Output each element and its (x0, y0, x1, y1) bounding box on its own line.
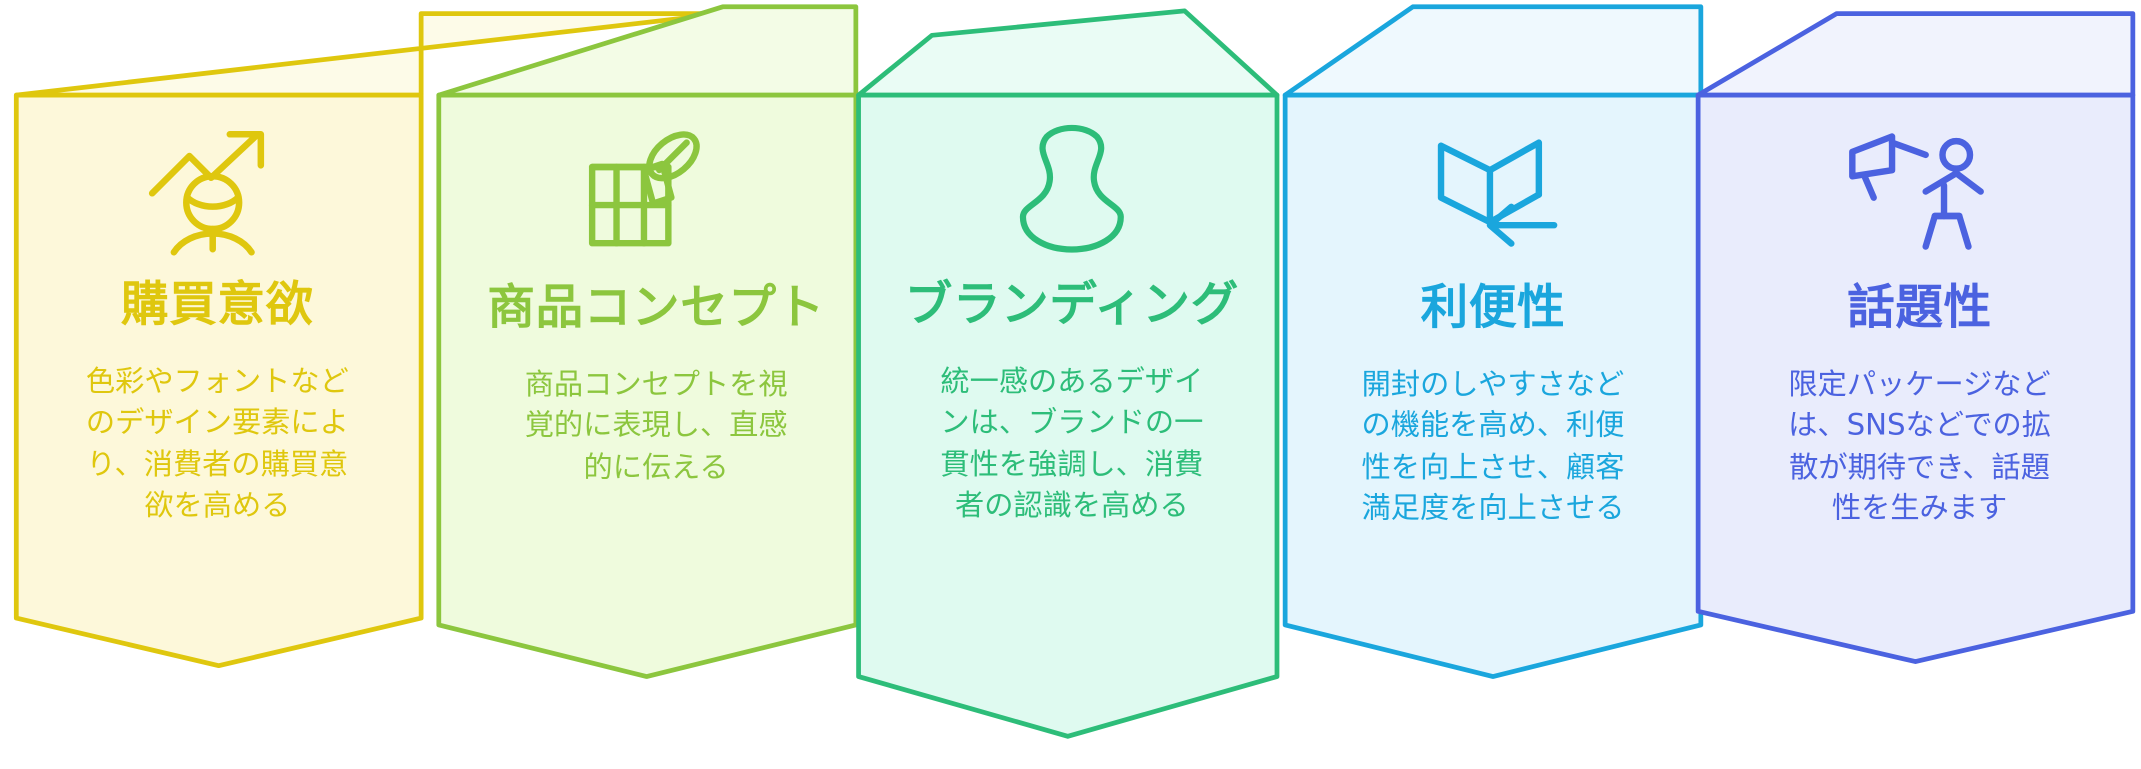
body-line: り、消費者の購買意 (54, 445, 380, 486)
growth-person-arrow-icon (137, 125, 297, 255)
panel-4-body-text: 開封のしやすさなど の機能を高め、利便 性を向上させ、顧客 満足度を向上させる (1330, 365, 1656, 531)
body-line: 限定パッケージなど (1757, 365, 2083, 406)
panel-buzz[interactable]: 話題性 限定パッケージなど は、SNSなどでの拡 散が期待でき、話題 性を生みま… (1679, 0, 2141, 666)
body-line: 商品コンセプトを視 (493, 365, 819, 406)
panel-1-title: 購買意欲 (121, 280, 314, 332)
body-line: のデザイン要素によ (54, 403, 380, 444)
panel-3-body-text: 統一感のあるデザイ ンは、ブランドの一 貫性を強調し、消費 者の認識を高める (909, 362, 1235, 528)
panel-convenience[interactable]: 利便性 開封のしやすさなど の機能を高め、利便 性を向上させ、顧客 満足度を向上… (1263, 0, 1711, 679)
panel-2-title: 商品コンセプト (487, 283, 825, 335)
body-line: の機能を高め、利便 (1330, 406, 1656, 447)
open-box-arrow-icon (1417, 130, 1569, 252)
body-line: は、SNSなどでの拡 (1757, 406, 2083, 447)
body-line: 色彩やフォントなど (54, 362, 380, 403)
panel-5-body-text: 限定パッケージなど は、SNSなどでの拡 散が期待でき、話題 性を生みます (1757, 365, 2083, 531)
panel-2-body-text: 商品コンセプトを視 覚的に表現し、直感 的に伝える (493, 365, 819, 489)
body-line: ンは、ブランドの一 (909, 403, 1235, 444)
panel-purchase-intent[interactable]: 購買意欲 色彩やフォントなど のデザイン要素によ り、消費者の購買意 欲を高める (0, 0, 435, 666)
panel-5-title: 話題性 (1847, 283, 1992, 335)
body-line: 性を生みます (1757, 489, 2083, 530)
body-line: 貫性を強調し、消費 (909, 445, 1235, 486)
shelf-leaf-product-icon (576, 130, 736, 255)
panel-4-title: 利便性 (1421, 283, 1566, 335)
panel-branding[interactable]: ブランディング 統一感のあるデザイ ンは、ブランドの一 貫性を強調し、消費 者の… (848, 0, 1296, 740)
infographic-canvas: 購買意欲 色彩やフォントなど のデザイン要素によ り、消費者の購買意 欲を高める (0, 0, 2141, 769)
body-line: 的に伝える (493, 448, 819, 489)
body-line: 性を向上させ、顧客 (1330, 448, 1656, 489)
body-line: 欲を高める (54, 486, 380, 527)
shield-badge-icon (992, 125, 1152, 255)
body-line: 者の認識を高める (909, 486, 1235, 527)
body-line: 散が期待でき、話題 (1757, 448, 2083, 489)
panel-1-body-text: 色彩やフォントなど のデザイン要素によ り、消費者の購買意 欲を高める (54, 362, 380, 528)
megaphone-person-icon (1841, 130, 1999, 252)
panel-product-concept[interactable]: 商品コンセプト 商品コンセプトを視 覚的に表現し、直感 的に伝える (432, 0, 880, 679)
body-line: 開封のしやすさなど (1330, 365, 1656, 406)
body-line: 覚的に表現し、直感 (493, 406, 819, 447)
panel-3-title: ブランディング (905, 280, 1239, 332)
body-line: 満足度を向上させる (1330, 489, 1656, 530)
body-line: 統一感のあるデザイ (909, 362, 1235, 403)
